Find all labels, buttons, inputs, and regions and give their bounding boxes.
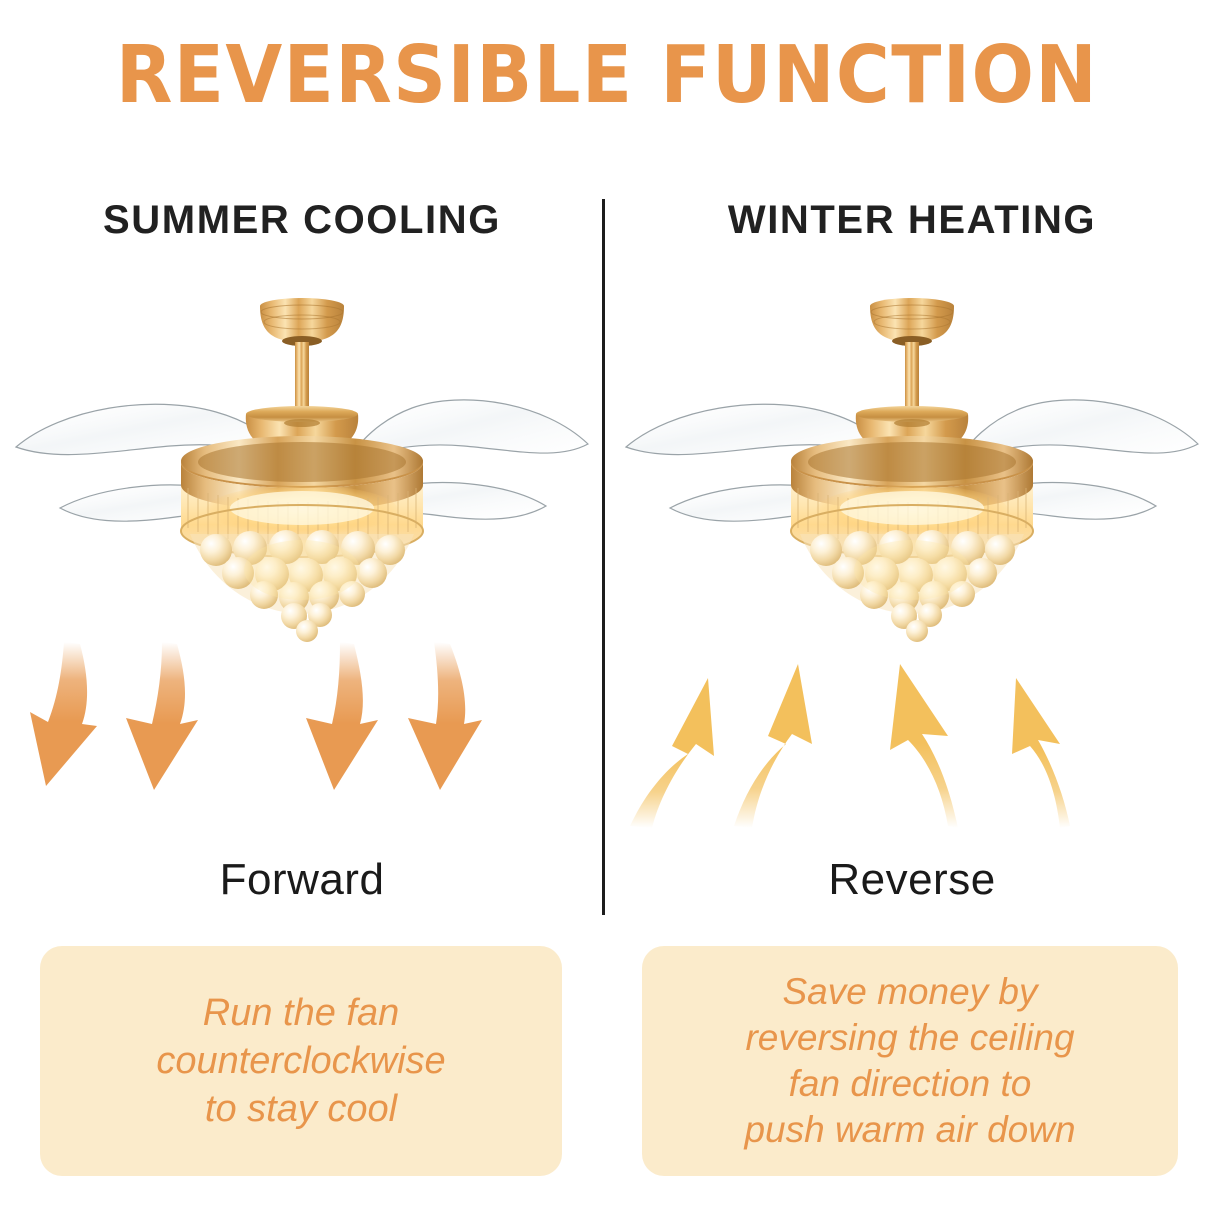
fan-canopy [260,298,344,346]
arrow-up-icon [630,664,1070,828]
fan-canopy [870,298,954,346]
caption-text-winter: Save money byreversing the ceilingfan di… [730,969,1089,1153]
caption-box-winter: Save money byreversing the ceilingfan di… [642,946,1178,1176]
ceiling-fan-image-winter [612,282,1212,642]
panel-heading-summer: SUMMER COOLING [2,198,602,243]
ceiling-fan-image-summer [2,282,602,642]
direction-label-forward: Forward [2,855,602,905]
airflow-arrows-down [2,640,602,830]
vertical-divider [602,199,605,915]
fan-downrod [295,342,309,410]
panel-summer-cooling: SUMMER COOLING [2,170,602,1214]
arrow-down-icon [30,642,482,790]
fan-crystal-cluster [190,530,414,642]
fan-crystal-cluster [800,530,1024,642]
panel-winter-heating: WINTER HEATING [612,170,1212,1214]
direction-label-reverse: Reverse [612,855,1212,905]
panel-heading-winter: WINTER HEATING [612,198,1212,243]
airflow-arrows-up [612,640,1212,830]
fan-downrod [905,342,919,410]
page-title: REVERSIBLE FUNCTION [42,36,1171,115]
caption-text-summer: Run the fancounterclockwiseto stay cool [142,989,459,1134]
caption-box-summer: Run the fancounterclockwiseto stay cool [40,946,562,1176]
